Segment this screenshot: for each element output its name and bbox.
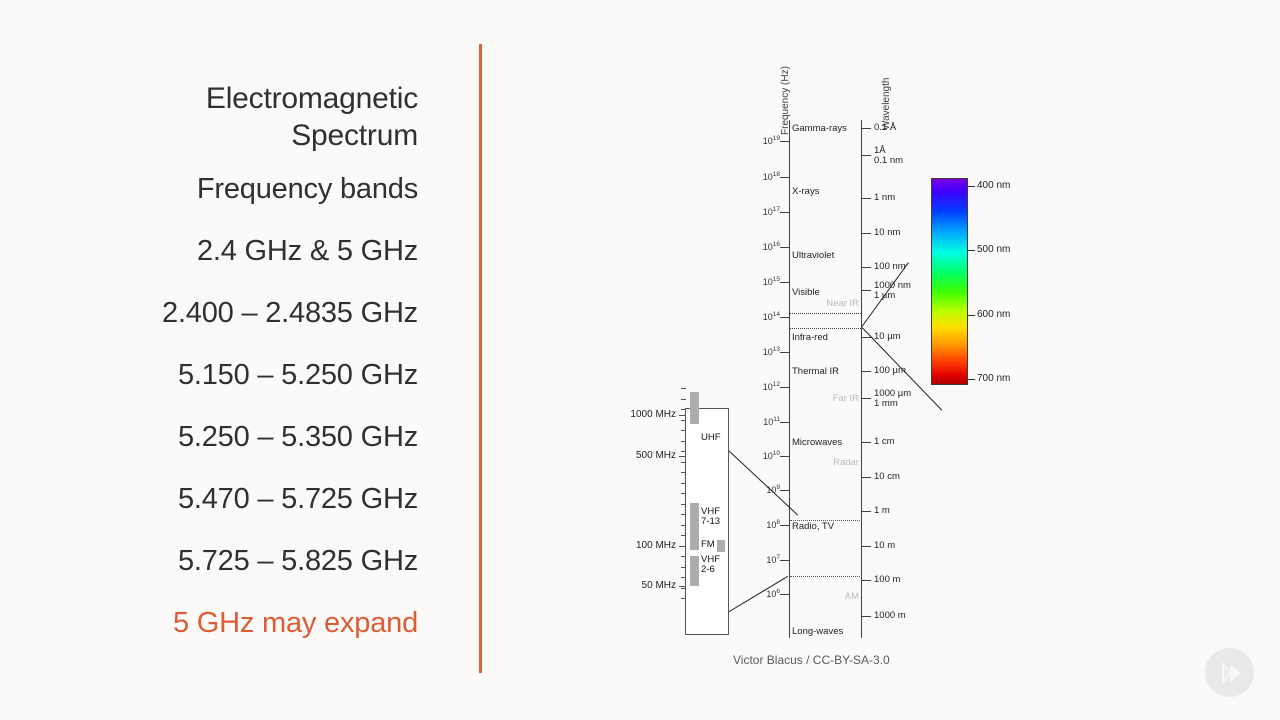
wavelength-tick <box>862 442 871 443</box>
bullet-frequency-bands: Frequency bands <box>197 172 418 206</box>
bullet-band-5150-5250: 5.150 – 5.250 GHz <box>178 358 418 392</box>
visible-spectrum-colorbar <box>931 178 968 385</box>
radio-scale-tick <box>679 415 686 416</box>
wavelength-tick <box>862 580 871 581</box>
radio-band-bar-fm-right <box>717 540 725 552</box>
radio-minor-tick <box>681 472 686 473</box>
frequency-tick <box>780 247 790 248</box>
radio-minor-tick <box>681 577 686 578</box>
radio-band-bar <box>690 540 699 550</box>
wavelength-tick-label: 10 µm <box>874 332 901 342</box>
frequency-tick <box>780 317 790 318</box>
radio-minor-tick <box>681 598 686 599</box>
wavelength-tick-label: 1Å0.1 nm <box>874 146 903 166</box>
radio-scale-label: 50 MHz <box>610 580 676 591</box>
wavelength-tick-label: 1000 µm1 mm <box>874 389 911 409</box>
wavelength-tick-label: 1 m <box>874 506 890 516</box>
radio-minor-tick <box>681 504 686 505</box>
radio-scale-tick <box>679 456 686 457</box>
electromagnetic-spectrum-diagram: Frequency (Hz) Wavelength 10191018101710… <box>600 30 1260 690</box>
frequency-tick <box>780 594 790 595</box>
wavelength-tick <box>862 511 871 512</box>
radio-minor-tick <box>681 441 686 442</box>
spectrum-band-long-waves: Long-waves <box>792 626 843 637</box>
radio-band-label-uhf: UHF <box>701 433 721 443</box>
radio-scale-label: 1000 MHz <box>610 409 676 420</box>
radio-band-bar <box>690 392 699 424</box>
spectrum-band-infra-red: Infra-red <box>792 332 828 343</box>
spectrum-band-microwaves: Microwaves <box>792 437 842 448</box>
bullet-band-5470-5725: 5.470 – 5.725 GHz <box>178 482 418 516</box>
spectrum-band-radar: Radar <box>796 457 859 468</box>
spectrum-band-am: AM <box>796 591 859 602</box>
radio-minor-tick <box>681 525 686 526</box>
wavelength-tick <box>862 198 871 199</box>
frequency-tick <box>780 525 790 526</box>
spectrum-band-ultraviolet: Ultraviolet <box>792 250 834 261</box>
slide-text-panel: Electromagnetic Spectrum Frequency bands… <box>0 0 460 720</box>
frequency-tick-label: 108 <box>750 519 780 530</box>
visible-band-highlight <box>790 313 861 329</box>
wavelength-tick <box>862 616 871 617</box>
radio-band-label-vhf-7-13: VHF7-13 <box>701 507 720 527</box>
spectrum-band-near-ir: Near IR <box>796 298 859 309</box>
visible-wavelength-tick <box>967 379 975 380</box>
frequency-tick-label: 1016 <box>750 241 780 252</box>
wavelength-tick-label: 10 nm <box>874 228 900 238</box>
radio-minor-tick <box>681 493 686 494</box>
image-credit: Victor Blacus / CC-BY-SA-3.0 <box>733 653 890 667</box>
wavelength-tick-label: 10 cm <box>874 472 900 482</box>
radio-minor-tick <box>681 430 686 431</box>
spectrum-band-gamma-rays: Gamma-rays <box>792 123 847 134</box>
wavelength-tick <box>862 155 871 156</box>
radio-band-bar <box>690 503 699 541</box>
radio-detail-dotline-bottom <box>790 576 862 577</box>
spectrum-band-far-ir: Far IR <box>796 393 859 404</box>
radio-minor-tick <box>681 514 686 515</box>
frequency-tick-label: 1019 <box>750 135 780 146</box>
frequency-tick <box>780 141 790 142</box>
visible-wavelength-label: 500 nm <box>977 244 1010 255</box>
radio-detail-dotline-top <box>790 520 862 521</box>
radio-minor-tick <box>681 388 686 389</box>
visible-wavelength-tick <box>967 315 975 316</box>
frequency-tick-label: 1010 <box>750 450 780 461</box>
radio-minor-tick <box>681 588 686 589</box>
bullet-band-2400-24835: 2.400 – 2.4835 GHz <box>162 296 418 330</box>
radio-band-label-fm: FM <box>701 540 715 550</box>
bullet-band-5250-5350: 5.250 – 5.350 GHz <box>178 420 418 454</box>
bullet-5ghz-may-expand: 5 GHz may expand <box>173 606 418 640</box>
wavelength-tick <box>862 371 871 372</box>
frequency-tick <box>780 177 790 178</box>
wavelength-tick-label: 100 m <box>874 575 900 585</box>
radio-band-bar <box>690 556 699 586</box>
visible-wavelength-tick <box>967 186 975 187</box>
radio-scale-label: 100 MHz <box>610 540 676 551</box>
bullet-band-5725-5825: 5.725 – 5.825 GHz <box>178 544 418 578</box>
wavelength-tick <box>862 477 871 478</box>
wavelength-tick-label: 1 nm <box>874 193 895 203</box>
frequency-tick <box>780 456 790 457</box>
radio-minor-tick <box>681 546 686 547</box>
frequency-tick-label: 1013 <box>750 346 780 357</box>
wavelength-tick <box>862 233 871 234</box>
radio-minor-tick <box>681 556 686 557</box>
radio-minor-tick <box>681 420 686 421</box>
wavelength-tick <box>862 398 871 399</box>
radio-minor-tick <box>681 535 686 536</box>
wavelength-tick <box>862 546 871 547</box>
frequency-tick-label: 1014 <box>750 311 780 322</box>
frequency-tick-label: 1015 <box>750 276 780 287</box>
frequency-tick <box>780 352 790 353</box>
radio-minor-tick <box>681 462 686 463</box>
wavelength-tick <box>862 128 871 129</box>
page-title: Electromagnetic Spectrum <box>206 80 418 154</box>
radio-minor-tick <box>681 567 686 568</box>
radio-scale-tick <box>679 586 686 587</box>
wavelength-tick-label: 0.1 Å <box>874 123 896 133</box>
visible-wavelength-label: 700 nm <box>977 373 1010 384</box>
wavelength-tick-label: 1000 m <box>874 611 906 621</box>
radio-minor-tick <box>681 451 686 452</box>
wavelength-tick-label: 1 cm <box>874 437 895 447</box>
spectrum-band-x-rays: X-rays <box>792 186 819 197</box>
wavelength-tick-label: 10 m <box>874 541 895 551</box>
radio-minor-tick <box>681 399 686 400</box>
player-logo-icon <box>1205 648 1254 697</box>
frequency-tick-label: 1011 <box>750 416 780 427</box>
radio-band-label-vhf-2-6: VHF2-6 <box>701 555 720 575</box>
radio-minor-tick <box>681 409 686 410</box>
frequency-tick-label: 1012 <box>750 381 780 392</box>
frequency-tick-label: 1018 <box>750 171 780 182</box>
frequency-tick <box>780 490 790 491</box>
frequency-tick <box>780 422 790 423</box>
spectrum-band-thermal-ir: Thermal IR <box>792 366 839 377</box>
visible-wavelength-tick <box>967 250 975 251</box>
frequency-tick <box>780 387 790 388</box>
frequency-tick-label: 1017 <box>750 206 780 217</box>
spectrum-band-visible: Visible <box>792 287 820 298</box>
spectrum-band-radio-tv: Radio, TV <box>792 521 834 532</box>
visible-wavelength-label: 600 nm <box>977 309 1010 320</box>
radio-minor-tick <box>681 483 686 484</box>
frequency-tick <box>780 212 790 213</box>
visible-wavelength-label: 400 nm <box>977 180 1010 191</box>
wavelength-tick <box>862 290 871 291</box>
frequency-tick-label: 107 <box>750 554 780 565</box>
frequency-tick <box>780 282 790 283</box>
vertical-divider <box>479 44 482 673</box>
radio-scale-label: 500 MHz <box>610 450 676 461</box>
frequency-tick <box>780 560 790 561</box>
wavelength-tick <box>862 267 871 268</box>
bullet-2-4-and-5-ghz: 2.4 GHz & 5 GHz <box>197 234 418 268</box>
